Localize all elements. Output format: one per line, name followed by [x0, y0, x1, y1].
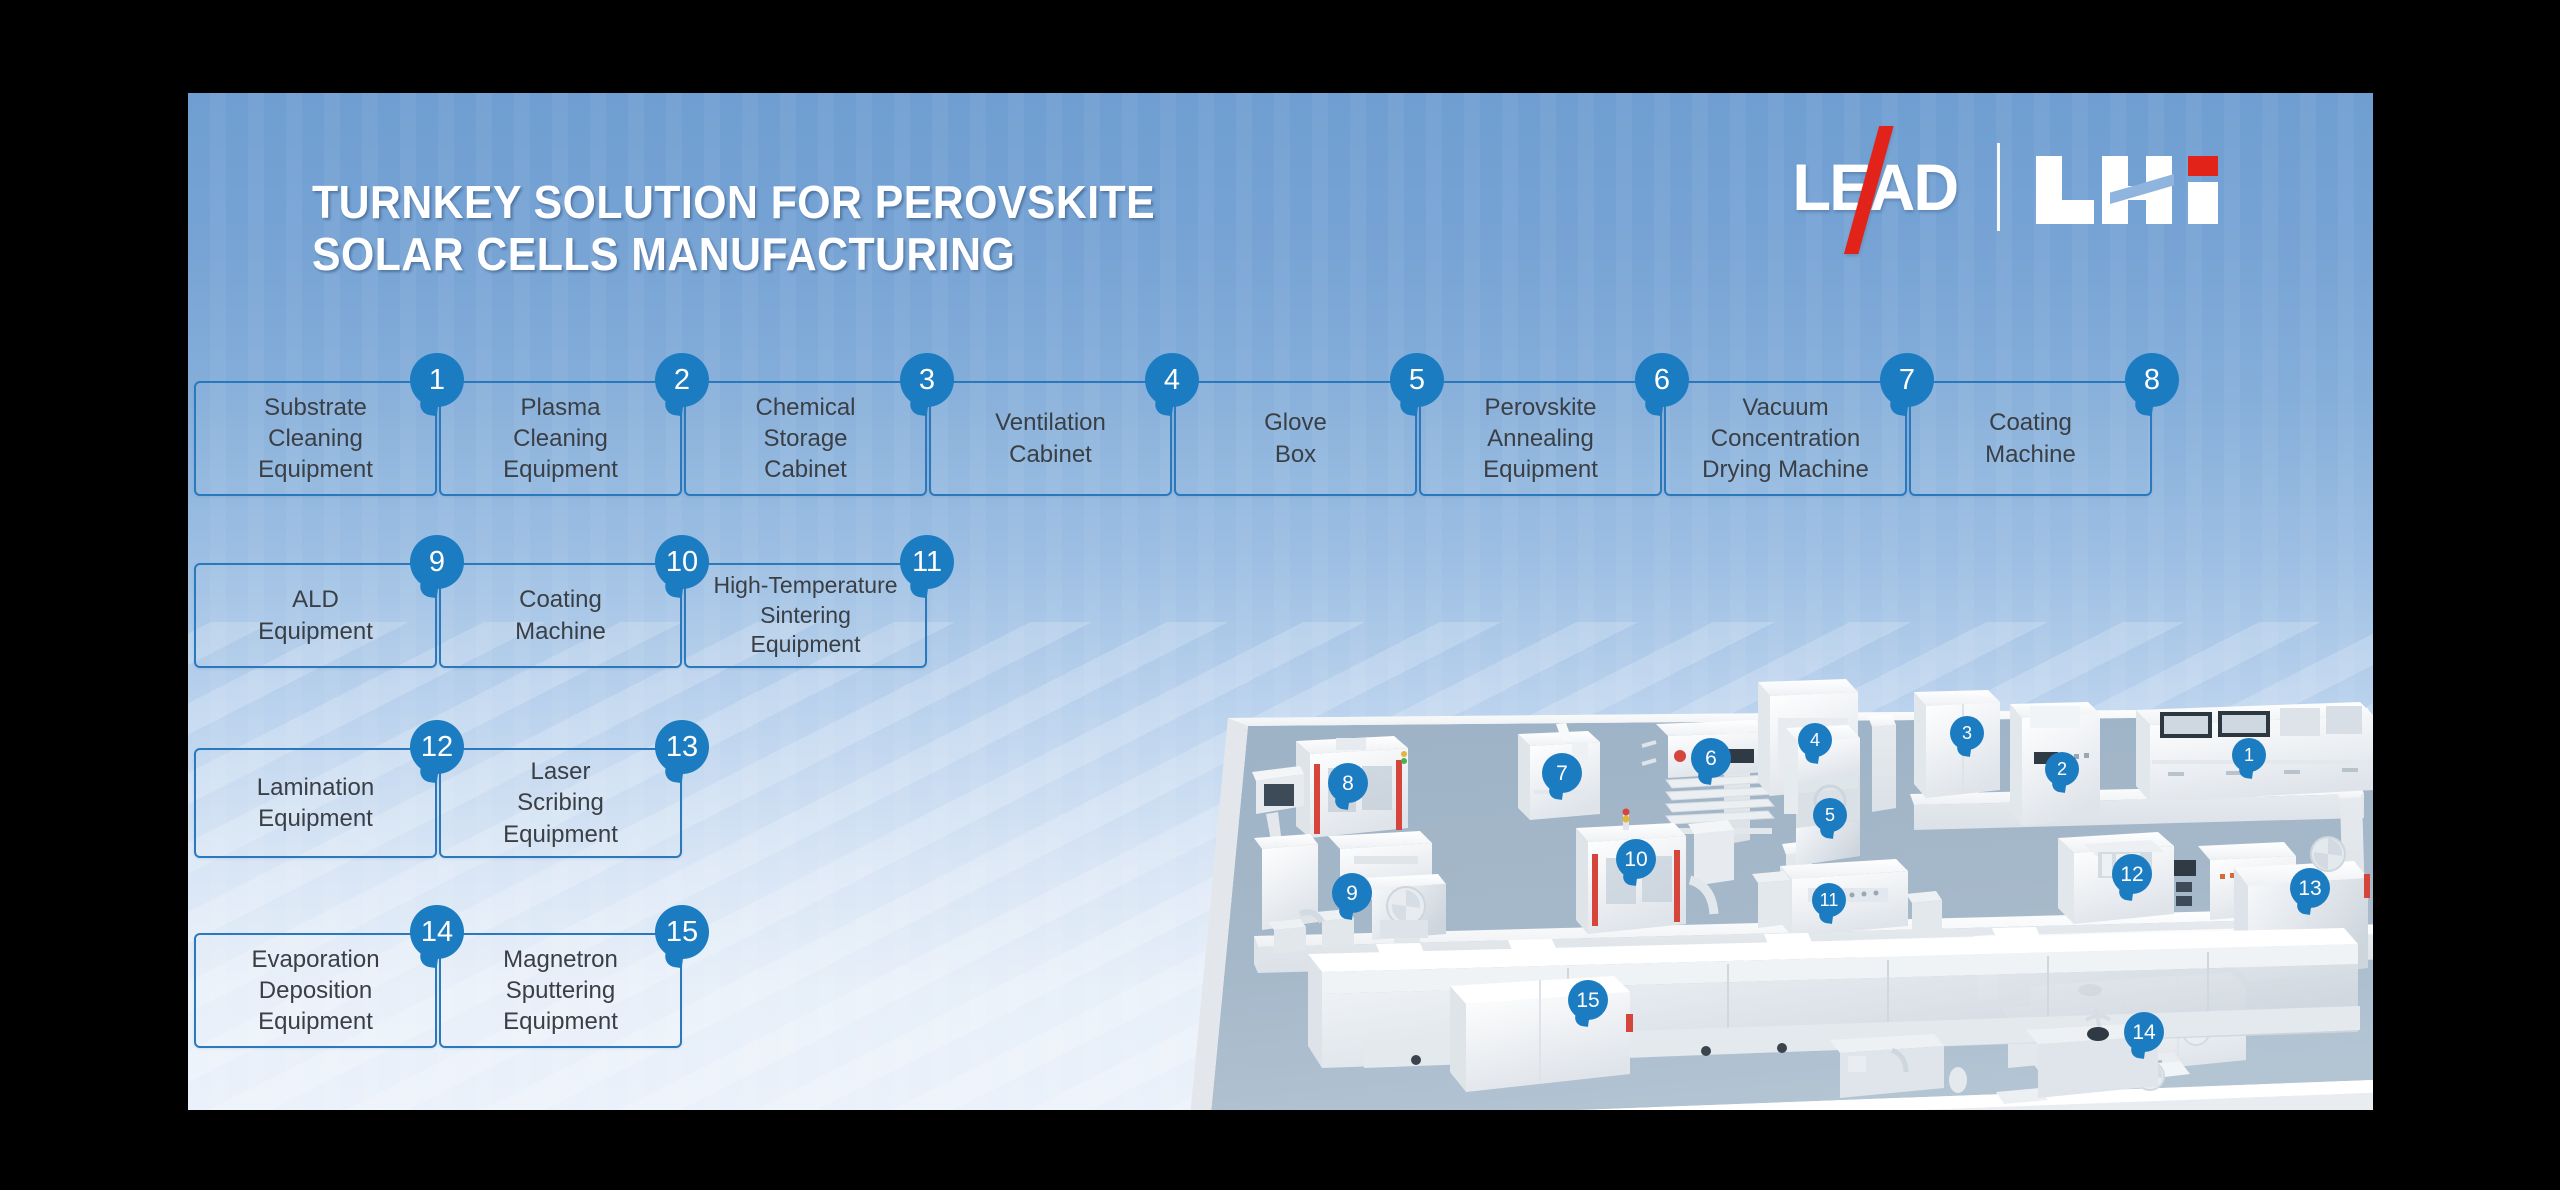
factory-floorplan-3d: 8 9 7 6 10 4 3 5 11 2 1 12 13 14 15	[1168, 668, 2373, 1110]
floorplan-marker-1[interactable]: 1	[2232, 738, 2266, 772]
title-line-2: SOLAR CELLS MANUFACTURING	[312, 229, 1428, 281]
equipment-card-11-label: High-Temperature Sintering Equipment	[713, 571, 897, 661]
floorplan-marker-7[interactable]: 7	[1542, 753, 1582, 793]
lhi-letter-l-foot	[2036, 200, 2094, 224]
equipment-card-2[interactable]: Plasma Cleaning Equipment	[439, 381, 682, 496]
equipment-card-11[interactable]: High-Temperature Sintering Equipment	[684, 563, 927, 668]
equipment-badge-11[interactable]: 11	[900, 535, 954, 589]
equipment-card-12-label: Lamination Equipment	[257, 772, 374, 834]
lead-logo: LEAD	[1793, 154, 1958, 220]
equipment-badge-14[interactable]: 14	[410, 905, 464, 959]
floorplan-marker-15[interactable]: 15	[1568, 980, 1608, 1020]
lhi-letter-i-dot	[2188, 156, 2218, 176]
equipment-card-7-label: Vacuum Concentration Drying Machine	[1702, 392, 1869, 486]
equipment-card-9[interactable]: ALD Equipment	[194, 563, 437, 668]
equipment-badge-5[interactable]: 5	[1390, 353, 1444, 407]
floorplan-marker-13[interactable]: 13	[2290, 868, 2330, 908]
floorplan-marker-2[interactable]: 2	[2045, 752, 2079, 786]
equipment-card-1-label: Substrate Cleaning Equipment	[258, 392, 373, 486]
equipment-card-13[interactable]: Laser Scribing Equipment	[439, 748, 682, 858]
equipment-badge-2[interactable]: 2	[655, 353, 709, 407]
equipment-card-6[interactable]: Perovskite Annealing Equipment	[1419, 381, 1662, 496]
equipment-card-7[interactable]: Vacuum Concentration Drying Machine	[1664, 381, 1907, 496]
floorplan-marker-8[interactable]: 8	[1328, 763, 1368, 803]
floorplan-marker-12[interactable]: 12	[2112, 854, 2152, 894]
equipment-badge-8[interactable]: 8	[2125, 353, 2179, 407]
equipment-badge-10[interactable]: 10	[655, 535, 709, 589]
equipment-card-13-label: Laser Scribing Equipment	[503, 756, 618, 850]
equipment-card-8[interactable]: Coating Machine	[1909, 381, 2152, 496]
brand-logo-group: LEAD	[1789, 141, 2218, 233]
page-title: TURNKEY SOLUTION FOR PEROVSKITE SOLAR CE…	[312, 177, 1428, 280]
floorplan-marker-11[interactable]: 11	[1812, 883, 1846, 917]
equipment-card-9-label: ALD Equipment	[258, 584, 373, 646]
equipment-card-15[interactable]: Magnetron Sputtering Equipment	[439, 933, 682, 1048]
equipment-card-15-label: Magnetron Sputtering Equipment	[503, 944, 618, 1038]
equipment-card-14-label: Evaporation Deposition Equipment	[251, 944, 379, 1038]
equipment-card-10-label: Coating Machine	[515, 584, 606, 646]
equipment-badge-7[interactable]: 7	[1880, 353, 1934, 407]
equipment-card-2-label: Plasma Cleaning Equipment	[503, 392, 618, 486]
equipment-card-4[interactable]: Ventilation Cabinet	[929, 381, 1172, 496]
floorplan-marker-14[interactable]: 14	[2124, 1012, 2164, 1052]
equipment-badge-15[interactable]: 15	[655, 905, 709, 959]
floorplan-marker-5[interactable]: 5	[1813, 798, 1847, 832]
equipment-card-5-label: Glove Box	[1264, 407, 1327, 469]
floorplan-marker-4[interactable]: 4	[1798, 723, 1832, 757]
equipment-card-4-label: Ventilation Cabinet	[995, 407, 1106, 469]
title-line-1: TURNKEY SOLUTION FOR PEROVSKITE	[312, 177, 1428, 229]
logo-divider	[1997, 143, 2000, 231]
screenshot-root: TURNKEY SOLUTION FOR PEROVSKITE SOLAR CE…	[0, 0, 2560, 1190]
equipment-card-10[interactable]: Coating Machine	[439, 563, 682, 668]
floorplan-marker-10[interactable]: 10	[1616, 839, 1656, 879]
equipment-badge-3[interactable]: 3	[900, 353, 954, 407]
promotional-banner: TURNKEY SOLUTION FOR PEROVSKITE SOLAR CE…	[188, 93, 2373, 1110]
equipment-card-14[interactable]: Evaporation Deposition Equipment	[194, 933, 437, 1048]
equipment-card-6-label: Perovskite Annealing Equipment	[1483, 392, 1598, 486]
equipment-badge-13[interactable]: 13	[655, 720, 709, 774]
equipment-card-3[interactable]: Chemical Storage Cabinet	[684, 381, 927, 496]
equipment-card-8-label: Coating Machine	[1985, 407, 2076, 469]
equipment-card-12[interactable]: Lamination Equipment	[194, 748, 437, 858]
equipment-badge-6[interactable]: 6	[1635, 353, 1689, 407]
lhi-letter-i-stem	[2188, 182, 2218, 224]
floorplan-marker-6[interactable]: 6	[1691, 738, 1731, 778]
equipment-card-3-label: Chemical Storage Cabinet	[755, 392, 855, 486]
equipment-badge-9[interactable]: 9	[410, 535, 464, 589]
lhi-logo	[2036, 150, 2218, 224]
equipment-badge-4[interactable]: 4	[1145, 353, 1199, 407]
equipment-badge-1[interactable]: 1	[410, 353, 464, 407]
floorplan-marker-9[interactable]: 9	[1332, 873, 1372, 913]
equipment-card-1[interactable]: Substrate Cleaning Equipment	[194, 381, 437, 496]
equipment-card-5[interactable]: Glove Box	[1174, 381, 1417, 496]
equipment-badge-12[interactable]: 12	[410, 720, 464, 774]
floorplan-marker-3[interactable]: 3	[1950, 716, 1984, 750]
